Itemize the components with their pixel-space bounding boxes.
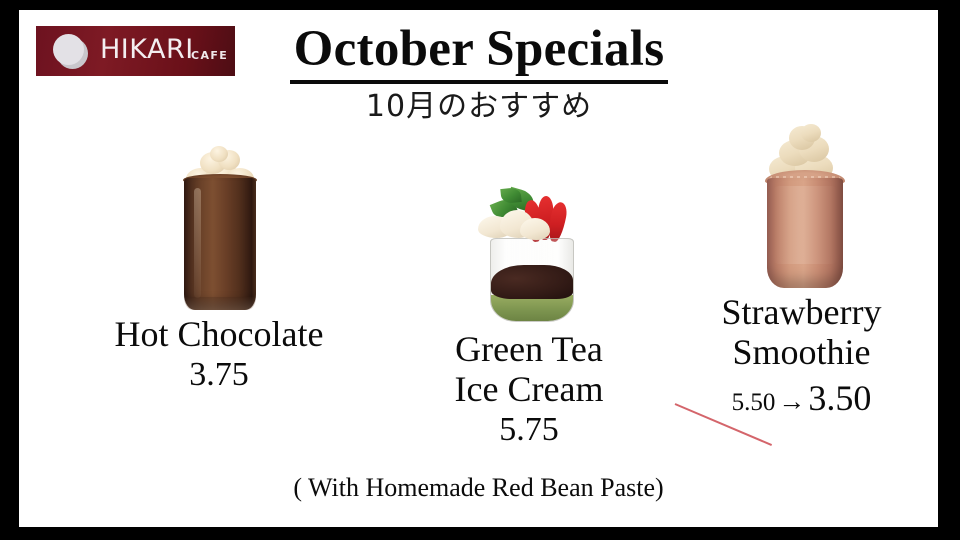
menu-item-strawberry-smoothie: Strawberry Smoothie 5.50→3.50 xyxy=(669,110,934,419)
menu-item-image-wrap xyxy=(669,110,934,290)
menu-item-name-line2: Smoothie xyxy=(669,332,934,372)
menu-item-old-price: 5.50 xyxy=(732,389,776,416)
menu-item-name: Green Tea Ice Cream xyxy=(374,329,684,410)
menu-item-text: Green Tea Ice Cream 5.75 xyxy=(374,329,684,449)
price-arrow-icon: → xyxy=(775,386,808,416)
menu-item-name: Strawberry Smoothie xyxy=(669,292,934,373)
logo-wordmark: HIKARI xyxy=(100,33,194,67)
strawberry-smoothie-image xyxy=(751,116,861,291)
moon-disc-icon xyxy=(53,34,88,69)
menu-item-price-row: 5.50→3.50 xyxy=(669,377,934,419)
page-title: October Specials xyxy=(290,20,669,84)
menu-item-name-line1: Strawberry xyxy=(669,292,934,332)
menu-item-image-wrap xyxy=(374,180,684,325)
glass-highlight xyxy=(194,188,201,298)
menu-item-text: Hot Chocolate 3.75 xyxy=(54,314,384,394)
poster-canvas: HIKARI CAFE October Specials 10月のおすすめ xyxy=(19,10,938,527)
menu-item-name-line1: Green Tea xyxy=(374,329,684,369)
menu-item-name-line2: Ice Cream xyxy=(374,369,684,409)
menu-item-name: Hot Chocolate xyxy=(54,314,384,354)
menu-item-price: 5.75 xyxy=(374,411,684,449)
menu-item-hot-chocolate: Hot Chocolate 3.75 xyxy=(54,120,384,394)
red-bean-paste-layer xyxy=(491,265,573,299)
menu-item-green-tea-ice-cream: Green Tea Ice Cream 5.75 xyxy=(374,180,684,449)
green-tea-ice-cream-image xyxy=(474,188,589,328)
smoothie-cup-body xyxy=(767,178,843,288)
glass-cup xyxy=(490,238,574,322)
hot-chocolate-glass-image xyxy=(172,136,268,316)
menu-item-new-price: 3.50 xyxy=(808,378,871,418)
footnote-text: ( With Homemade Red Bean Paste) xyxy=(19,473,938,503)
poster-root: HIKARI CAFE October Specials 10月のおすすめ xyxy=(0,0,960,540)
header-block: October Specials 10月のおすすめ xyxy=(199,20,759,124)
menu-item-text: Strawberry Smoothie 5.50→3.50 xyxy=(669,292,934,419)
whipped-cream xyxy=(478,202,552,238)
menu-item-price: 3.75 xyxy=(54,356,384,394)
moon-disc-front xyxy=(53,34,84,65)
menu-item-image-wrap xyxy=(54,120,384,310)
